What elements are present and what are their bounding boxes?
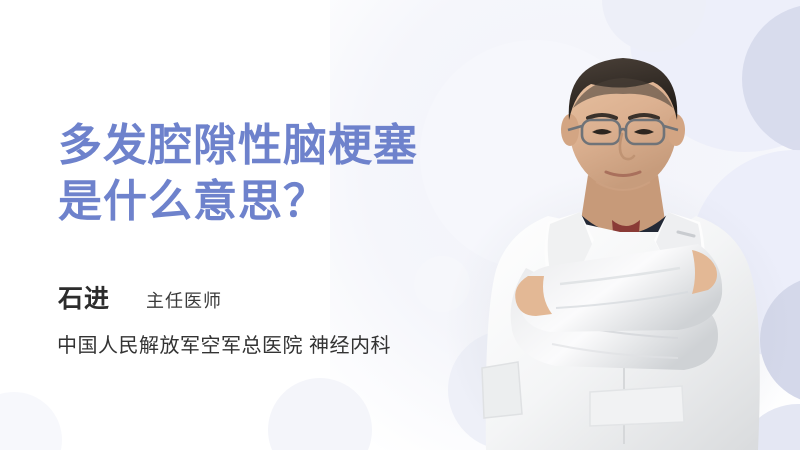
headline-line-2: 是什么意思？ xyxy=(58,174,518,230)
decor-circle-bottom-left xyxy=(268,378,372,450)
headline-block: 多发腔隙性脑梗塞 是什么意思？ xyxy=(58,118,518,230)
headline-line-1: 多发腔隙性脑梗塞 xyxy=(58,118,518,174)
doctor-qa-card: 多发腔隙性脑梗塞 是什么意思？ 石进 主任医师 中国人民解放军空军总医院 神经内… xyxy=(0,0,800,450)
doctor-identity-row: 石进 主任医师 xyxy=(58,279,222,315)
doctor-affiliation: 中国人民解放军空军总医院 神经内科 xyxy=(57,329,391,358)
doctor-title: 主任医师 xyxy=(146,287,222,313)
decor-circle-far-left xyxy=(0,392,62,450)
doctor-name: 石进 xyxy=(58,279,110,315)
